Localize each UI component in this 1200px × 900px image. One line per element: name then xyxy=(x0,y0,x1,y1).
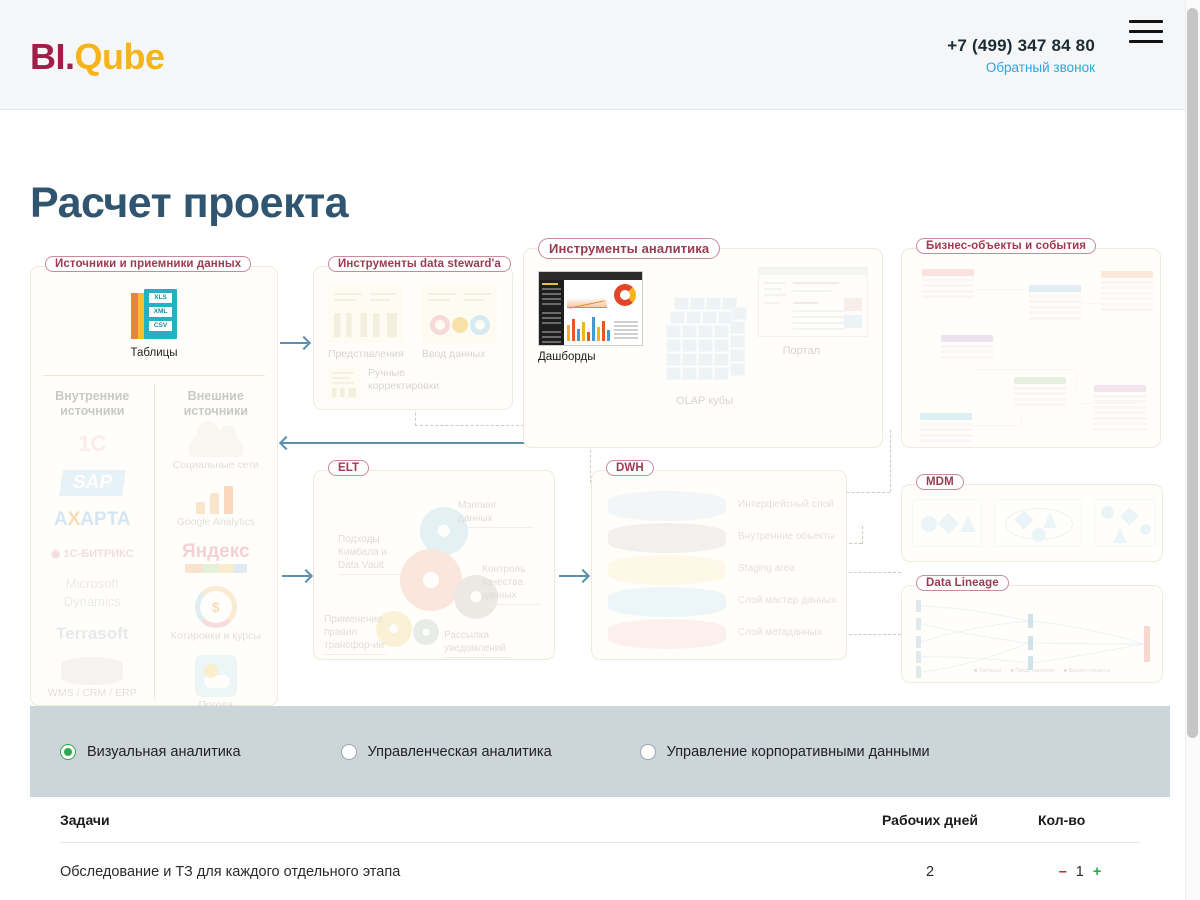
lineage-legend-views: ■ Представления xyxy=(1010,668,1054,674)
manual-corrections-label: Ручные корректировки xyxy=(368,367,446,393)
er-table-shops xyxy=(1029,285,1081,320)
dwh-label-internal: Внутренние объекты xyxy=(738,531,835,542)
label-transform-rules: Применение правил трансфор-ии xyxy=(324,613,386,652)
column-header-qty: Кол-во xyxy=(1020,812,1140,828)
arrow-sources-to-elt xyxy=(282,575,310,577)
dashboards-caption: Дашборды xyxy=(538,351,596,363)
er-table-stock xyxy=(920,413,972,442)
label-data-mapping: Мэппинг данных xyxy=(458,499,534,525)
radio-dot-visual[interactable] xyxy=(60,744,76,760)
panel-data-lineage: Data Lineage ■ Таблицы xyxy=(901,585,1163,683)
logo-terrasoft: Terrasoft xyxy=(31,624,154,644)
analytics-type-selector: Визуальная аналитика Управленческая анал… xyxy=(30,706,1170,797)
external-sources-heading: Внешние источники xyxy=(155,389,278,419)
panel-tag-analyst: Инструменты аналитика xyxy=(538,238,720,259)
er-table-requisites xyxy=(1094,385,1146,431)
format-xml: XML xyxy=(149,307,172,317)
views-card-icon xyxy=(328,285,403,343)
page-scrollbar-track[interactable] xyxy=(1185,0,1200,900)
site-logo[interactable]: BI.Qube xyxy=(30,36,165,78)
radio-visual-analytics[interactable]: Визуальная аналитика xyxy=(60,744,241,760)
panel-mdm: MDM xyxy=(901,484,1163,562)
panel-tag-mdm: MDM xyxy=(916,474,964,490)
dwh-layer-interface xyxy=(608,491,726,521)
panel-data-sources: Источники и приемники данных XLS XML CSV… xyxy=(30,266,278,706)
radio-corporate-data[interactable]: Управление корпоративными данными xyxy=(640,744,930,760)
er-table-deals xyxy=(1101,271,1153,311)
panel-tag-sources: Источники и приемники данных xyxy=(45,256,251,272)
google-analytics-icon: Google Analytics xyxy=(155,484,278,528)
radio-label-visual: Визуальная аналитика xyxy=(87,744,241,760)
dwh-label-staging: Staging area xyxy=(738,563,795,574)
google-analytics-caption: Google Analytics xyxy=(155,516,278,528)
panel-tag-business-objects: Бизнес-объекты и события xyxy=(916,238,1096,254)
mdm-box-input xyxy=(912,499,982,547)
column-header-task: Задачи xyxy=(60,812,840,828)
panel-elt: ELT Мэппинг данных Подходы Кимбала и Dat… xyxy=(313,470,555,660)
weather-icon: Погода xyxy=(155,655,278,711)
logo-1c: 1С xyxy=(31,431,154,457)
portal-caption: Портал xyxy=(783,345,820,359)
panel-data-steward: Инструменты data steward'a Представления… xyxy=(313,266,513,410)
hamburger-menu-icon[interactable] xyxy=(1129,20,1163,46)
wms-crm-erp-caption: WMS / CRM / ERP xyxy=(31,687,154,699)
dwh-layer-internal xyxy=(608,523,726,553)
quotes-rates-icon: $ Котировки и курсы xyxy=(155,586,278,642)
mdm-box-output xyxy=(1094,499,1156,547)
table-row: Обследование и ТЗ для каждого отдельного… xyxy=(60,843,1140,880)
radio-dot-management[interactable] xyxy=(341,744,357,760)
logo-qube-text: Qube xyxy=(75,36,165,77)
label-notifications: Рассылка уведомлений xyxy=(444,629,510,655)
lineage-legend-bobj: ■ Бизнес-объекты xyxy=(1064,668,1110,674)
dwh-label-metadata: Слой метаданных xyxy=(738,627,822,638)
internal-sources-heading: Внутренние источники xyxy=(31,389,154,419)
column-header-days: Рабочих дней xyxy=(840,812,1020,828)
logo-wms-crm-erp: WMS / CRM / ERP xyxy=(31,657,154,699)
olap-cube-icon xyxy=(666,297,754,389)
social-networks-icon: Социальные сети xyxy=(155,431,278,471)
dwh-layer-metadata xyxy=(608,619,726,649)
table-header-row: Задачи Рабочих дней Кол-во xyxy=(60,812,1140,843)
decrement-button[interactable]: – xyxy=(1059,864,1067,880)
gear-notifications xyxy=(413,619,439,645)
callback-link[interactable]: Обратный звонок xyxy=(947,60,1095,75)
er-table-goods xyxy=(922,269,974,298)
internal-sources-column: Внутренние источники 1С SAP AXAPTA ◉ 1C-… xyxy=(31,383,154,699)
arrow-elt-to-dwh xyxy=(559,575,587,577)
tables-icon: XLS XML CSV xyxy=(131,289,177,341)
er-table-checks xyxy=(1014,377,1066,406)
task-days: 2 xyxy=(840,864,1020,880)
tables-caption: Таблицы xyxy=(31,347,277,359)
panel-dwh: DWH Интерфейсный слой Внутренние объекты… xyxy=(591,470,847,660)
views-label: Представления xyxy=(328,348,408,361)
manual-corrections-card-icon xyxy=(328,367,360,401)
page-title: Расчет проекта xyxy=(30,179,348,228)
task-name: Обследование и ТЗ для каждого отдельного… xyxy=(60,864,840,880)
radio-management-analytics[interactable]: Управленческая аналитика xyxy=(341,744,552,760)
logo-bitrix: ◉ 1C-БИТРИКС xyxy=(31,544,154,562)
logo-bi-text: BI. xyxy=(30,36,75,77)
architecture-diagram: Источники и приемники данных XLS XML CSV… xyxy=(0,230,1185,695)
external-sources-column: Внешние источники Социальные сети Google… xyxy=(154,383,278,699)
arrow-sources-to-steward xyxy=(280,342,308,344)
radio-dot-corporate[interactable] xyxy=(640,744,656,760)
dashboard-screenshot xyxy=(538,271,643,346)
label-kimball-datavault: Подходы Кимбала и Data Vault xyxy=(338,533,400,572)
dashed-connector-mdm-v xyxy=(862,526,863,544)
panel-tag-lineage: Data Lineage xyxy=(916,575,1009,591)
dwh-label-interface: Интерфейсный слой xyxy=(738,499,834,510)
logo-axapta: AXAPTA xyxy=(31,509,154,531)
mdm-box-core xyxy=(994,499,1082,547)
site-header: BI.Qube +7 (499) 347 84 80 Обратный звон… xyxy=(0,0,1185,110)
dwh-layer-master xyxy=(608,587,726,617)
format-xls: XLS xyxy=(149,293,172,303)
social-networks-caption: Социальные сети xyxy=(155,459,278,471)
panel-analyst-tools: Инструменты аналитика Дашборды xyxy=(523,248,883,448)
quotes-rates-caption: Котировки и курсы xyxy=(155,630,278,642)
panel-business-objects: Бизнес-объекты и события xyxy=(901,248,1161,448)
lineage-legend-tables: ■ Таблицы xyxy=(974,668,1001,674)
quantity-stepper[interactable]: – 1 + xyxy=(1020,864,1140,880)
logo-sap: SAP xyxy=(31,470,154,496)
yandex-metrika-icon: Яндекс xyxy=(155,541,278,573)
gear-kimball xyxy=(400,549,462,611)
radio-label-management: Управленческая аналитика xyxy=(368,744,552,760)
portal-screenshot xyxy=(758,267,868,337)
format-csv: CSV xyxy=(149,321,172,331)
dwh-layer-staging xyxy=(608,555,726,585)
label-data-quality: Контроль качества данных xyxy=(482,563,540,602)
panel-tag-steward: Инструменты data steward'a xyxy=(328,256,511,272)
header-contact: +7 (499) 347 84 80 Обратный звонок xyxy=(947,36,1095,75)
olap-caption: OLAP кубы xyxy=(676,395,733,409)
increment-button[interactable]: + xyxy=(1093,864,1101,880)
phone-number[interactable]: +7 (499) 347 84 80 xyxy=(947,36,1095,56)
quantity-value: 1 xyxy=(1076,864,1084,880)
logo-ms-dynamics: MicrosoftDynamics xyxy=(31,575,154,611)
page-scrollbar-thumb[interactable] xyxy=(1187,8,1198,738)
data-entry-label: Ввод данных xyxy=(422,348,502,361)
radio-label-corporate: Управление корпоративными данными xyxy=(667,744,930,760)
dashed-connector-bobj-up xyxy=(890,430,891,492)
er-table-clients xyxy=(941,335,993,359)
tasks-table: Задачи Рабочих дней Кол-во Обследование … xyxy=(60,812,1140,880)
dwh-label-master: Слой мастер-данных xyxy=(738,595,836,606)
data-entry-card-icon xyxy=(422,285,497,343)
